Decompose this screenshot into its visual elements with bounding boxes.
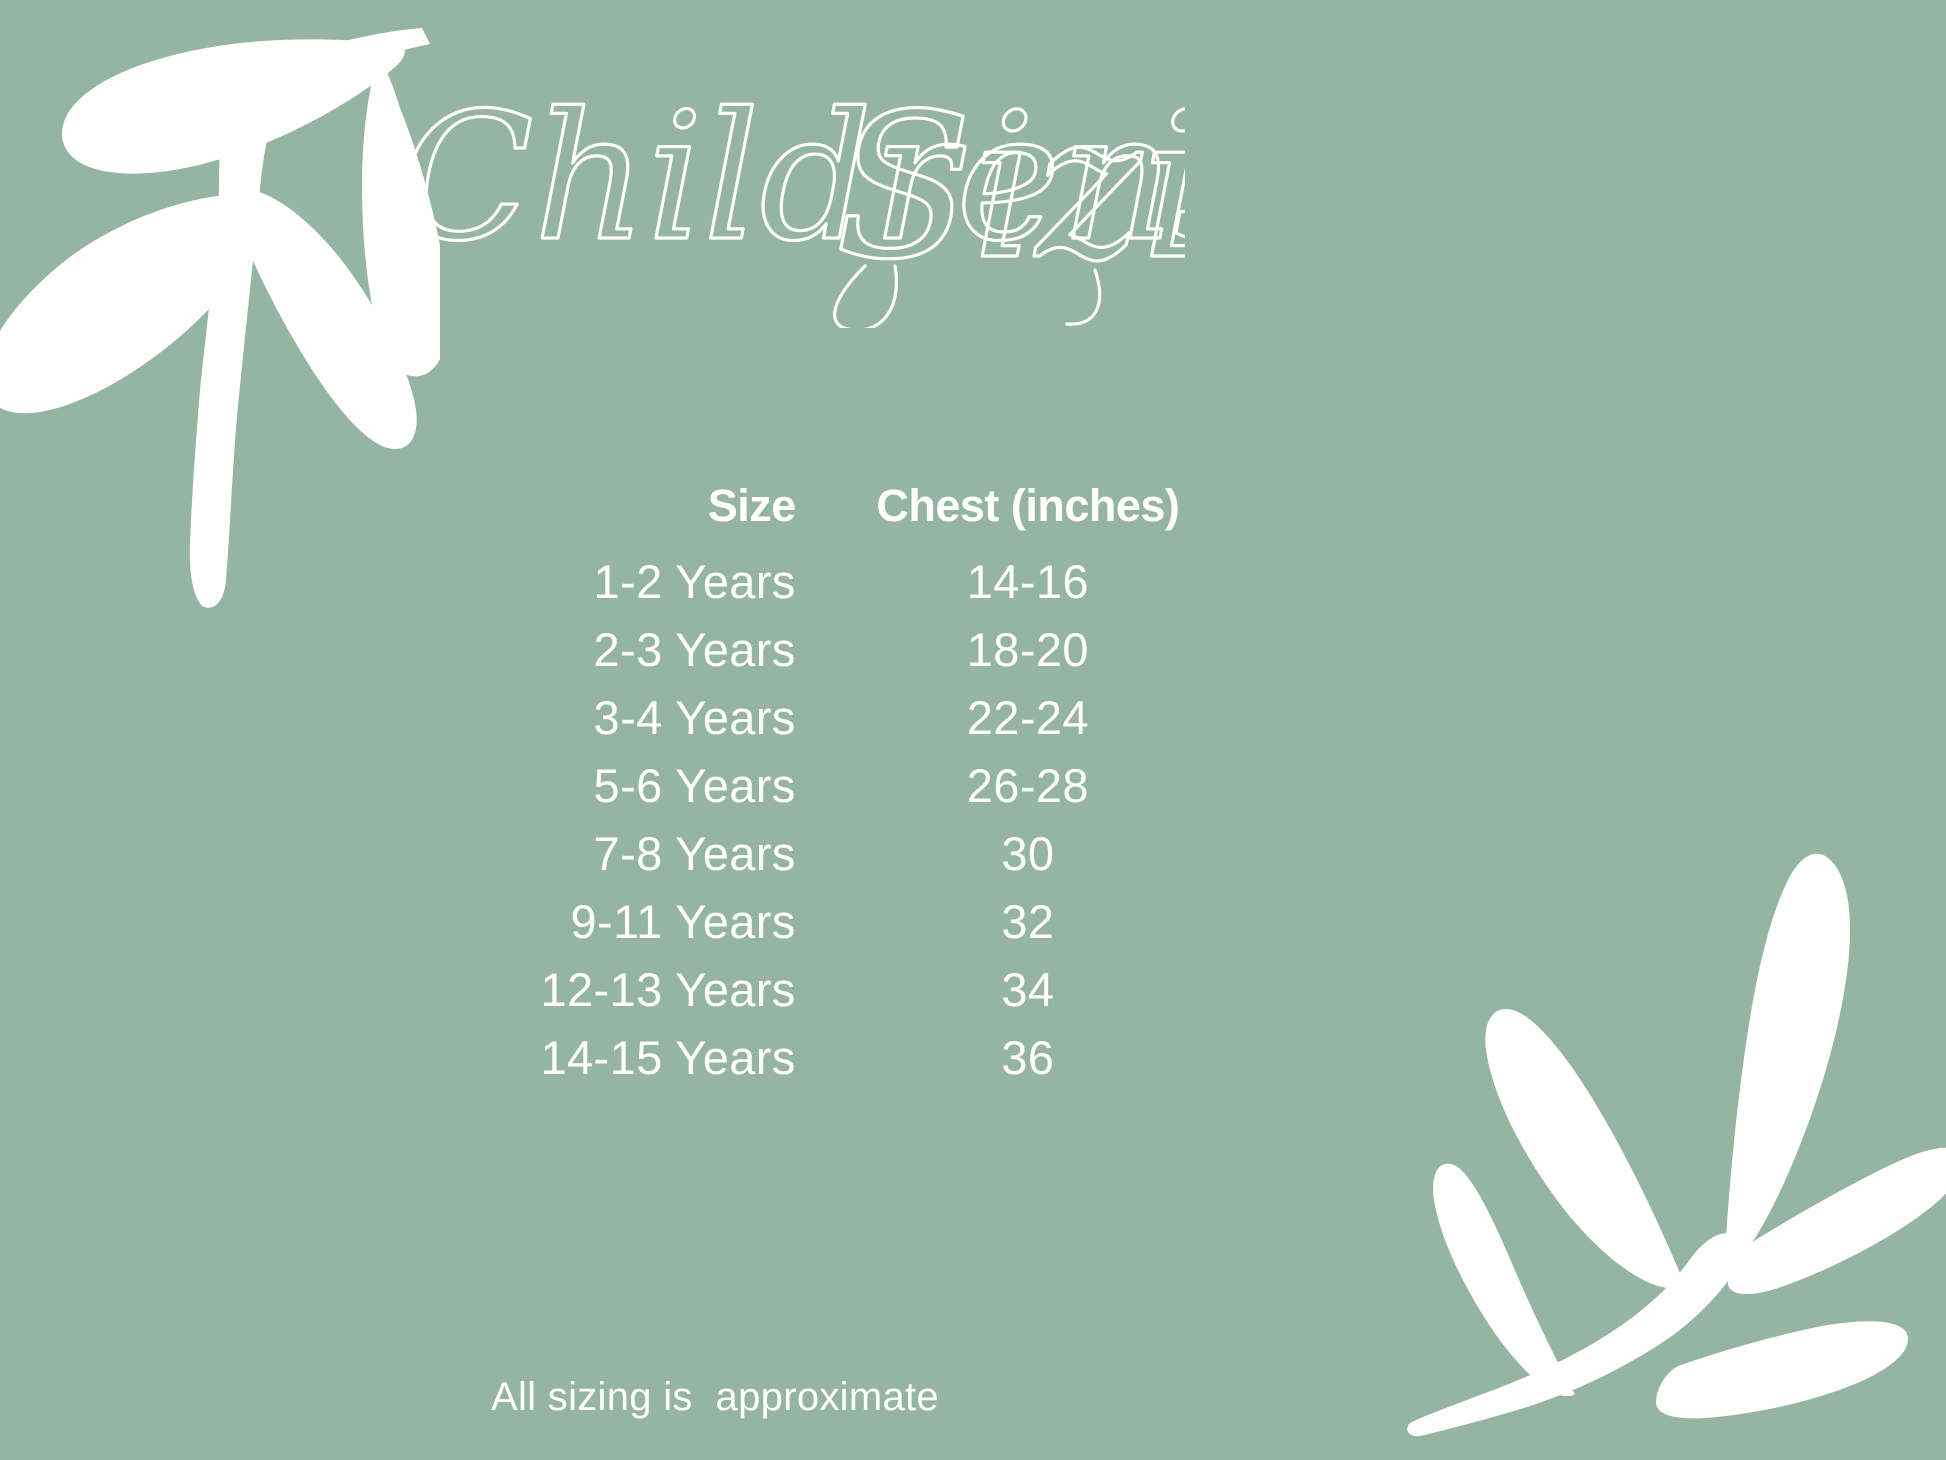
cell-size: 1-2 Years	[430, 554, 826, 609]
table-row: 7-8 Years 30	[430, 826, 1230, 894]
cell-size: 12-13 Years	[430, 962, 826, 1017]
table-row: 2-3 Years 18-20	[430, 622, 1230, 690]
table-row: 5-6 Years 26-28	[430, 758, 1230, 826]
table-row: 9-11 Years 32	[430, 894, 1230, 962]
page-title: Childrens Sizing	[395, 38, 1185, 328]
cell-chest: 22-24	[826, 690, 1230, 745]
cell-chest: 36	[826, 1030, 1230, 1085]
cell-size: 3-4 Years	[430, 690, 826, 745]
table-row: 1-2 Years 14-16	[430, 554, 1230, 622]
column-header-size: Size	[430, 480, 826, 532]
table-header-row: Size Chest (inches)	[430, 480, 1230, 554]
cell-chest: 34	[826, 962, 1230, 1017]
size-chart-graphic: Childrens Sizing Size Chest (inches) 1-2…	[0, 0, 1946, 1460]
table-row: 3-4 Years 22-24	[430, 690, 1230, 758]
cell-size: 14-15 Years	[430, 1030, 826, 1085]
cell-size: 7-8 Years	[430, 826, 826, 881]
table-row: 14-15 Years 36	[430, 1030, 1230, 1098]
cell-chest: 18-20	[826, 622, 1230, 677]
cell-chest: 14-16	[826, 554, 1230, 609]
sizing-table: Size Chest (inches) 1-2 Years 14-16 2-3 …	[430, 480, 1230, 1098]
botanical-branch-top-left-icon	[0, 10, 440, 610]
cell-size: 2-3 Years	[430, 622, 826, 677]
cell-chest: 26-28	[826, 758, 1230, 813]
cell-size: 5-6 Years	[430, 758, 826, 813]
cell-size: 9-11 Years	[430, 894, 826, 949]
title-word-two: Sizing	[835, 71, 1185, 304]
cell-chest: 30	[826, 826, 1230, 881]
botanical-branch-bottom-right-icon	[1406, 730, 1946, 1460]
column-header-chest: Chest (inches)	[826, 480, 1230, 532]
cell-chest: 32	[826, 894, 1230, 949]
table-row: 12-13 Years 34	[430, 962, 1230, 1030]
disclaimer-text: All sizing is approximate	[0, 1375, 1430, 1420]
